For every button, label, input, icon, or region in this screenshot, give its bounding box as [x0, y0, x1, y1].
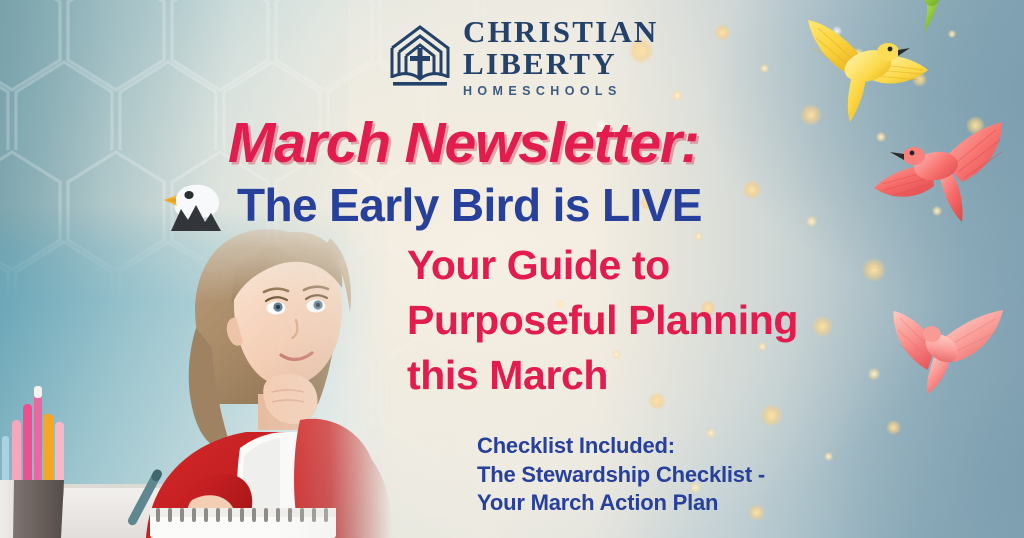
eagle-emoji-icon: [163, 179, 225, 231]
headline-kicker: March Newsletter:: [228, 110, 699, 176]
checklist-callout: Checklist Included: The Stewardship Chec…: [477, 432, 765, 518]
girl-studying-photo: [0, 208, 392, 538]
flying-bird-yellow-icon: [806, 18, 928, 122]
checklist-line-1: Checklist Included:: [477, 432, 765, 461]
brand-line-2: LIBERTY: [463, 48, 659, 79]
brand-line-3: HOMESCHOOLS: [463, 85, 659, 98]
headline-main: The Early Bird is LIVE: [237, 178, 702, 232]
subheadline: Your Guide to Purposeful Planning this M…: [407, 238, 927, 403]
subheadline-line-1: Your Guide to: [407, 238, 927, 293]
headline-main-row: The Early Bird is LIVE: [163, 178, 702, 232]
newsletter-banner: CHRISTIAN LIBERTY HOMESCHOOLS March News…: [0, 0, 1024, 538]
brand-line-1: CHRISTIAN: [463, 16, 659, 47]
checklist-line-2: The Stewardship Checklist -: [477, 461, 765, 490]
church-book-cross-icon: [389, 24, 451, 90]
subheadline-line-3: this March: [407, 348, 927, 403]
flying-bird-red-icon: [874, 120, 1006, 230]
brand-wordmark: CHRISTIAN LIBERTY HOMESCHOOLS: [463, 16, 659, 98]
subheadline-line-2: Purposeful Planning: [407, 293, 927, 348]
checklist-line-3: Your March Action Plan: [477, 489, 765, 518]
brand-logo[interactable]: CHRISTIAN LIBERTY HOMESCHOOLS: [389, 16, 659, 98]
